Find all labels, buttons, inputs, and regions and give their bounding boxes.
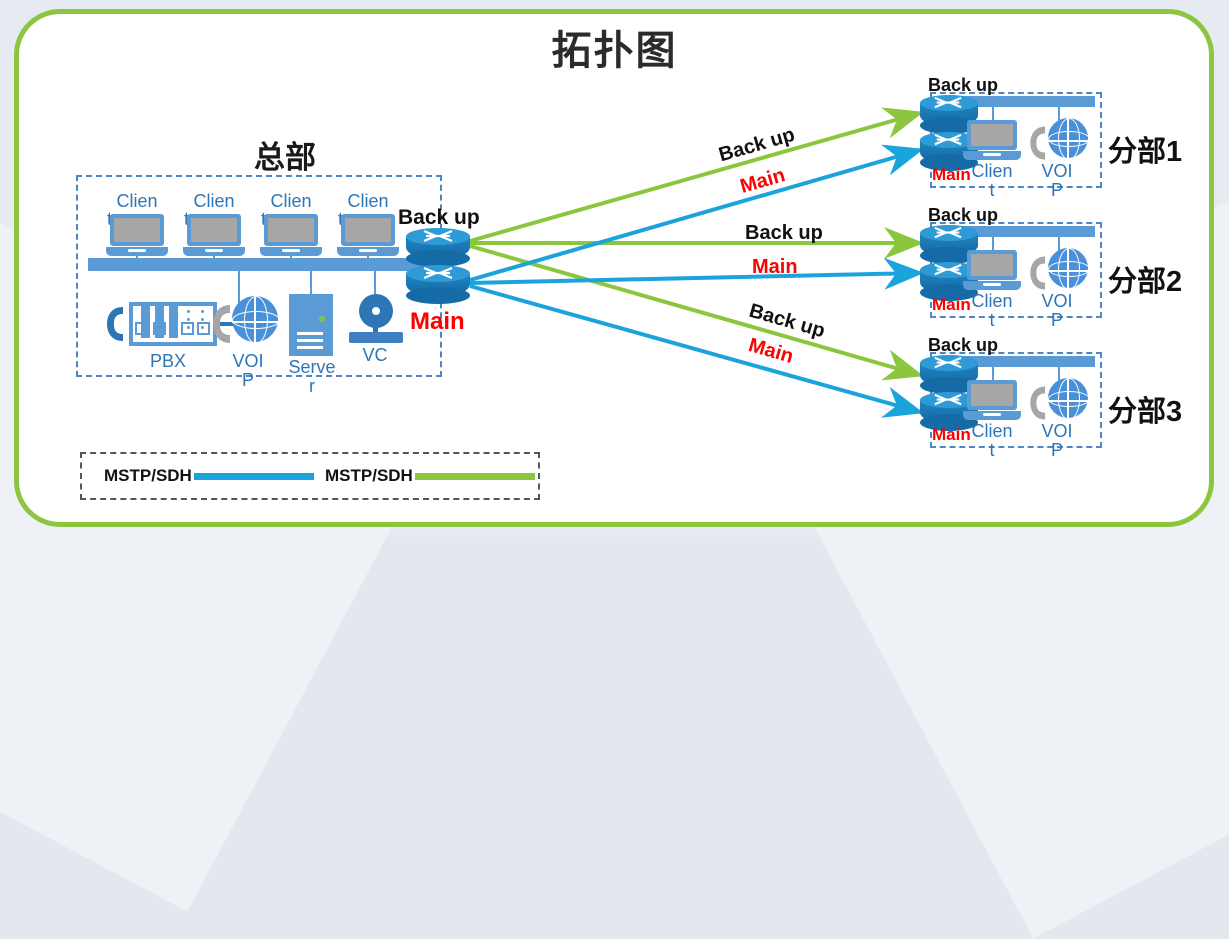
laptop-icon	[260, 214, 322, 258]
branch-1-router-backup-label: Back up	[928, 75, 998, 96]
branch-3-client[interactable]: Clien t	[963, 380, 1021, 422]
router-arrows-icon	[933, 95, 963, 112]
branch-2-client[interactable]: Clien t	[963, 250, 1021, 292]
laptop-icon	[183, 214, 245, 258]
branch-3-voip-label: VOI	[1026, 422, 1088, 441]
laptop-icon	[963, 380, 1021, 422]
hq-router-backup[interactable]	[406, 228, 470, 268]
hq-client-2[interactable]: Clien t	[180, 214, 248, 258]
link-label-main-branch2: Main	[752, 256, 798, 279]
hq-title: 总部	[185, 132, 385, 177]
legend-item-2: MSTP/SDH	[325, 466, 535, 486]
hq-voip-label2: P	[213, 371, 283, 390]
hq-server-label: Serve	[277, 358, 347, 377]
branch-2-client-label: Clien	[958, 292, 1026, 311]
router-arrows-icon	[933, 392, 963, 409]
router-arrows-icon	[933, 132, 963, 149]
hq-vc-label: VC	[340, 346, 410, 365]
hq-client-2-label: Clien	[180, 192, 248, 211]
legend-item-1-label: MSTP/SDH	[104, 466, 192, 486]
hq-server-label2: r	[277, 377, 347, 396]
hq-voip-label: VOI	[213, 352, 283, 371]
branch-3-client-label2: t	[958, 441, 1026, 460]
hq-client-1-stem	[136, 256, 138, 268]
pbx-icon	[103, 300, 221, 348]
globe-icon	[1040, 378, 1088, 426]
hq-client-1-label: Clien	[103, 192, 171, 211]
hq-server[interactable]: Serve r	[289, 294, 333, 356]
router-arrows-icon	[933, 355, 963, 372]
phone-handset-icon	[103, 304, 129, 344]
branch-3-client-label: Clien	[958, 422, 1026, 441]
hq-pbx-label: PBX	[133, 352, 203, 371]
branch-1-client-label2: t	[958, 181, 1026, 200]
hq-router-backup-label: Back up	[398, 206, 480, 230]
branch-1-client-label: Clien	[958, 162, 1026, 181]
laptop-icon	[337, 214, 399, 258]
router-arrows-icon	[422, 228, 454, 246]
hq-client-2-stem	[213, 256, 215, 268]
branch-3-title: 分部3	[1108, 388, 1182, 430]
globe-icon	[1040, 248, 1088, 296]
branch-3-router-backup-label: Back up	[928, 335, 998, 356]
router-arrows-icon	[933, 225, 963, 242]
laptop-icon	[963, 250, 1021, 292]
laptop-icon	[963, 120, 1021, 162]
hq-bus-line	[88, 258, 433, 271]
hq-server-stem	[310, 268, 312, 294]
legend-item-1-swatch	[194, 473, 314, 480]
hq-pbx[interactable]: PBX	[103, 300, 221, 348]
hq-client-3-stem	[290, 256, 292, 268]
server-icon	[289, 294, 333, 356]
globe-icon	[1040, 118, 1088, 166]
branch-1-voip-label: VOI	[1026, 162, 1088, 181]
camera-icon	[347, 294, 403, 346]
branch-1-client[interactable]: Clien t	[963, 120, 1021, 162]
hq-client-4-stem	[367, 256, 369, 268]
hq-vc[interactable]: VC	[347, 294, 403, 346]
branch-2-voip-label2: P	[1026, 311, 1088, 330]
branch-2-client-label2: t	[958, 311, 1026, 330]
branch-2-router-backup-label: Back up	[928, 205, 998, 226]
legend-item-2-label: MSTP/SDH	[325, 466, 413, 486]
hq-router-main[interactable]	[406, 265, 470, 305]
legend-item-2-swatch	[415, 473, 535, 480]
router-arrows-icon	[933, 262, 963, 279]
branch-1-voip-label2: P	[1026, 181, 1088, 200]
hq-router-main-label: Main	[410, 308, 465, 336]
globe-icon	[222, 296, 278, 352]
hq-client-4[interactable]: Clien t	[334, 214, 402, 258]
hq-client-3-label: Clien	[257, 192, 325, 211]
legend-item-1: MSTP/SDH	[104, 466, 314, 486]
hq-client-4-label: Clien	[334, 192, 402, 211]
laptop-icon	[106, 214, 168, 258]
branch-2-title: 分部2	[1108, 258, 1182, 300]
branch-2-voip-label: VOI	[1026, 292, 1088, 311]
hq-client-1[interactable]: Clien t	[103, 214, 171, 258]
hq-vc-stem	[374, 268, 376, 294]
branch-3-voip-label2: P	[1026, 441, 1088, 460]
hq-client-3[interactable]: Clien t	[257, 214, 325, 258]
legend: MSTP/SDH MSTP/SDH	[80, 452, 540, 500]
link-label-backup-branch2: Back up	[745, 222, 823, 245]
router-arrows-icon	[422, 265, 454, 283]
topology-diagram: 拓扑图 Back up Main Back up Main Back up Ma…	[0, 0, 1229, 537]
branch-1-title: 分部1	[1108, 128, 1182, 170]
